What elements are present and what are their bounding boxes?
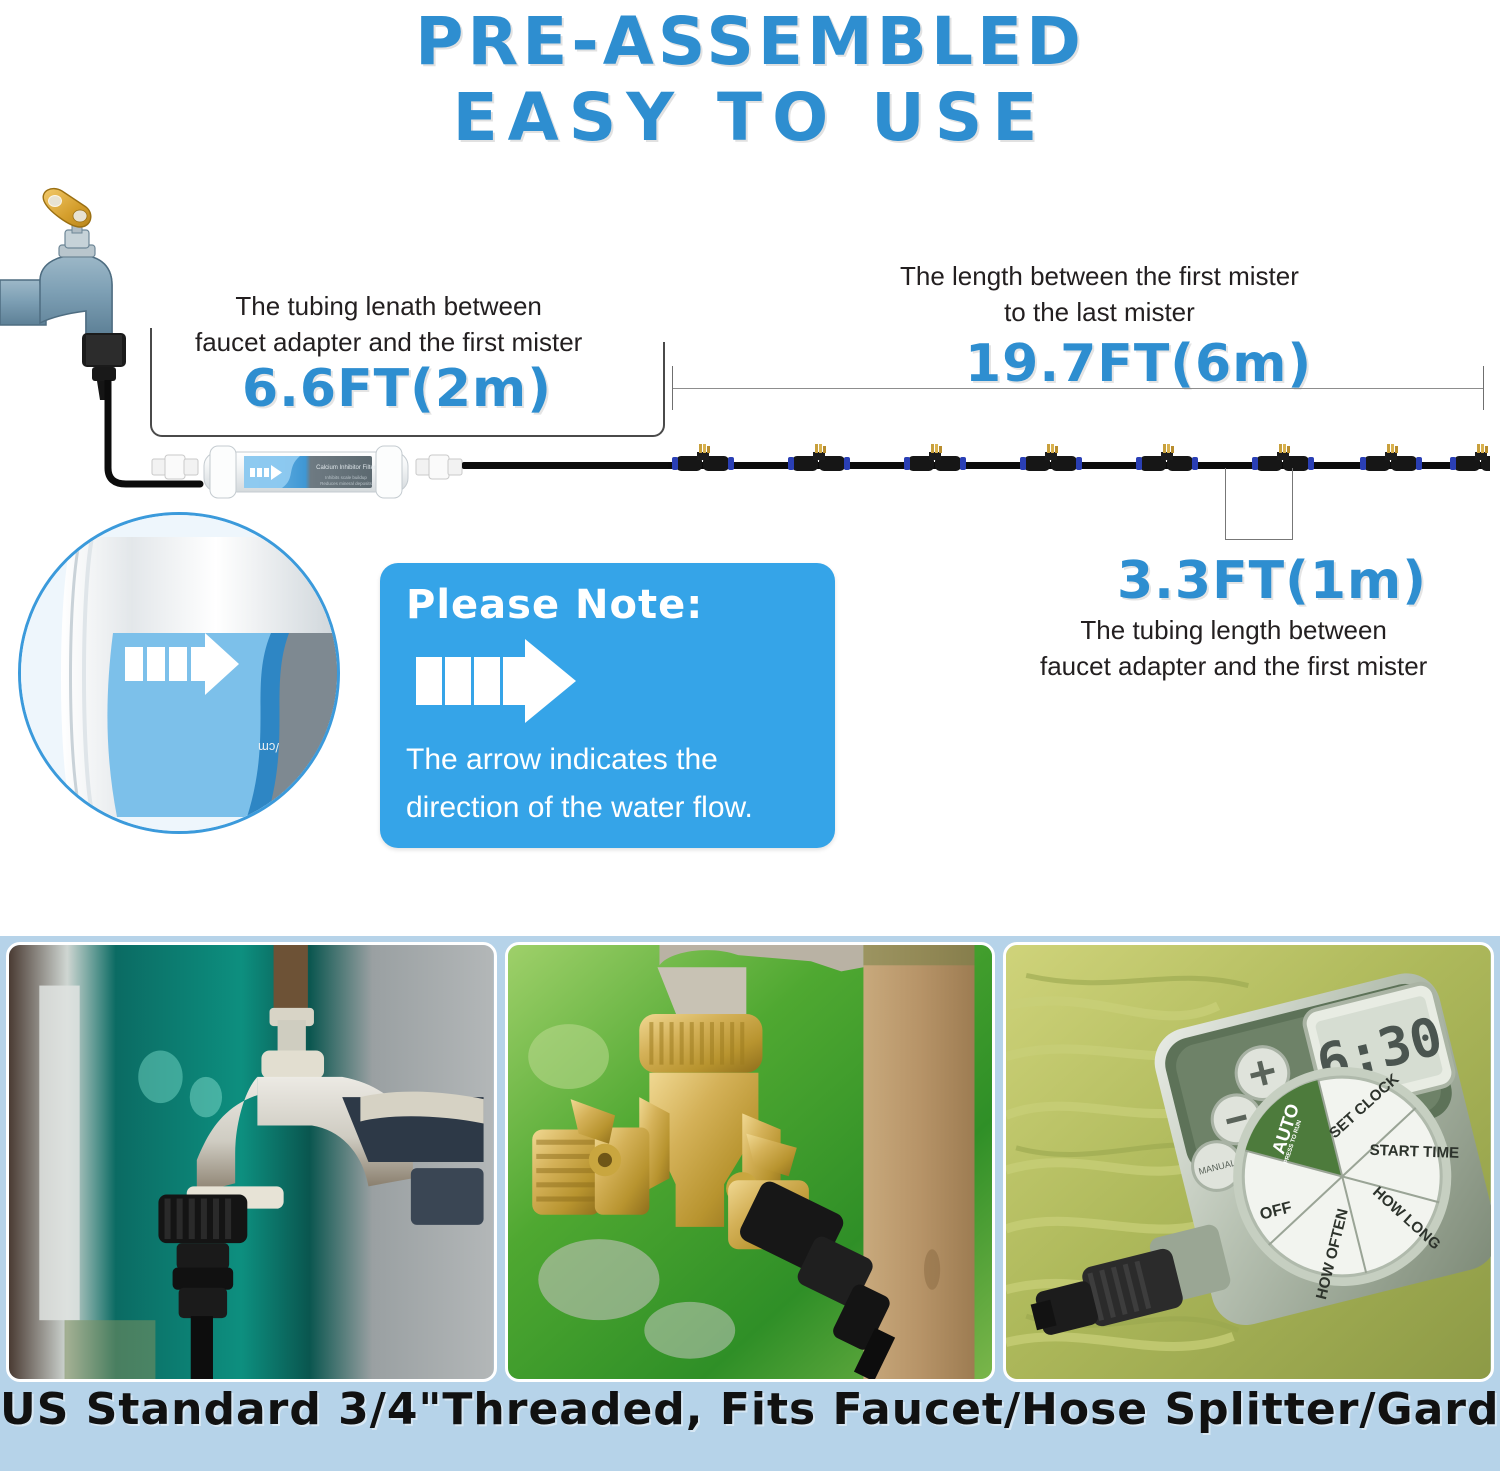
svg-text:Reduces mineral deposits: Reduces mineral deposits [320, 481, 373, 486]
mister-nozzle [672, 444, 1490, 471]
product-diagram: Calcium Inhibitor Filter Inhibits scale … [0, 0, 1500, 935]
magnified-label-text: /cm [258, 740, 279, 755]
garden-faucet-illustration [0, 185, 175, 400]
note-arrow-icon [416, 637, 809, 730]
left-measure-caption-line1: The tubing lenath between [195, 288, 582, 324]
right-measure-caption-line2: to the last mister [900, 294, 1299, 330]
left-measure-caption-line2: faucet adapter and the first mister [195, 324, 582, 360]
faucet-handle-icon [43, 189, 91, 227]
photo-strip: 6:30 MANUAL [0, 942, 1500, 1382]
dial-label-start-time: START TIME [1370, 1142, 1460, 1162]
inline-calcium-filter: Calcium Inhibitor Filter Inhibits scale … [200, 440, 412, 504]
quick-connector-left [148, 452, 204, 482]
right-measure-value: 19.7FT(6m) [965, 335, 1312, 393]
svg-text:Inhibits scale buildup: Inhibits scale buildup [325, 475, 367, 480]
segment-measure-caption: The tubing length between faucet adapter… [1040, 612, 1427, 684]
segment-measure-caption-line1: The tubing length between [1040, 612, 1427, 648]
footer-caption-bar: US Standard 3/4"Threaded, Fits Faucet/Ho… [0, 1384, 1500, 1435]
note-body-line1: The arrow indicates the [406, 736, 809, 784]
photo-brass-hose-splitter [505, 942, 996, 1382]
dimension-bracket-segment [1225, 468, 1293, 540]
right-measure-caption-line1: The length between the first mister [900, 258, 1299, 294]
segment-measure-value: 3.3FT(1m) [1117, 552, 1427, 610]
tubing-filter-to-misters [462, 462, 672, 469]
mister-nozzle-row [660, 436, 1490, 478]
photo-garden-water-timer: 6:30 MANUAL [1003, 942, 1494, 1382]
photo-strip-band: 6:30 MANUAL [0, 936, 1500, 1471]
svg-text:Calcium Inhibitor Filter: Calcium Inhibitor Filter [316, 465, 376, 471]
filter-label-magnifier: /cm [18, 512, 340, 834]
left-measure-caption: The tubing lenath between faucet adapter… [195, 288, 582, 360]
segment-measure-caption-line2: faucet adapter and the first mister [1040, 648, 1427, 684]
left-measure-value: 6.6FT(2m) [242, 360, 552, 418]
quick-connector-right [412, 452, 468, 482]
note-title: Please Note: [406, 581, 809, 629]
please-note-box: Please Note: The arrow indicates the dir… [380, 563, 835, 848]
right-measure-caption: The length between the first mister to t… [900, 258, 1299, 330]
footer-caption: US Standard 3/4"Threaded, Fits Faucet/Ho… [0, 1384, 1500, 1435]
photo-outdoor-faucet-with-adapter [6, 942, 497, 1382]
note-body-line2: direction of the water flow. [406, 784, 809, 832]
